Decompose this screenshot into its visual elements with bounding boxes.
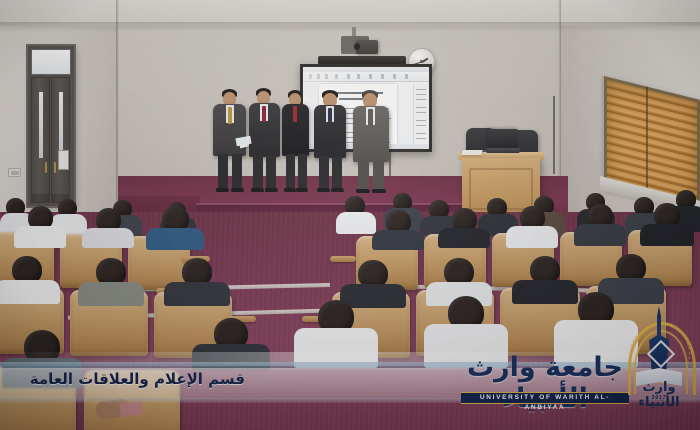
blind-cord bbox=[646, 87, 648, 199]
door-glass-left bbox=[39, 92, 43, 158]
wall-socket bbox=[8, 168, 21, 177]
presenter-5-tie bbox=[368, 109, 373, 126]
projector-lens-icon bbox=[354, 43, 360, 50]
lecture-hall-photo: قسم الإعلام والعلاقات العامة جامعة وارث … bbox=[0, 0, 700, 430]
door-handle-right bbox=[54, 162, 56, 173]
door-kickplate-left bbox=[32, 194, 49, 202]
presenter-4-tie bbox=[328, 108, 332, 123]
emblem-year: 2017 bbox=[624, 395, 694, 401]
word-ribbon bbox=[303, 72, 429, 82]
wall-cable bbox=[553, 96, 555, 174]
door-glass-right bbox=[59, 92, 63, 158]
door-leaf-left bbox=[31, 77, 50, 203]
word-side-pane bbox=[413, 84, 428, 149]
presenter-1-tie bbox=[228, 107, 232, 124]
presenter-3-tie bbox=[293, 106, 297, 122]
double-door bbox=[28, 46, 74, 206]
watermark-university-logo: جامعة وارث الأنبياء UNIVERSITY OF WARITH… bbox=[455, 356, 635, 408]
podium-papers bbox=[461, 150, 482, 155]
ceiling-shadow bbox=[0, 22, 700, 32]
watermark-university-english: UNIVERSITY OF WARITH AL-ANBIYAA bbox=[461, 393, 629, 403]
door-transom-window bbox=[31, 49, 71, 75]
door-leaf-right bbox=[51, 77, 70, 203]
laptop-screen bbox=[488, 129, 518, 149]
emblem-minaret-spire bbox=[657, 306, 661, 336]
presenter-2-tie bbox=[262, 106, 266, 122]
chair-row1-armrest-right bbox=[330, 256, 356, 266]
door-notice-paper bbox=[58, 150, 69, 170]
watermark-english-bar: UNIVERSITY OF WARITH AL-ANBIYAA bbox=[461, 392, 629, 404]
laptop-keyboard bbox=[486, 148, 520, 153]
door-handle-left bbox=[45, 162, 47, 173]
university-emblem-icon: وارث الأنبياء 2017 bbox=[624, 306, 694, 408]
clock-center-pin bbox=[420, 60, 423, 63]
watermark-department-text: قسم الإعلام والعلاقات العامة bbox=[30, 370, 245, 388]
